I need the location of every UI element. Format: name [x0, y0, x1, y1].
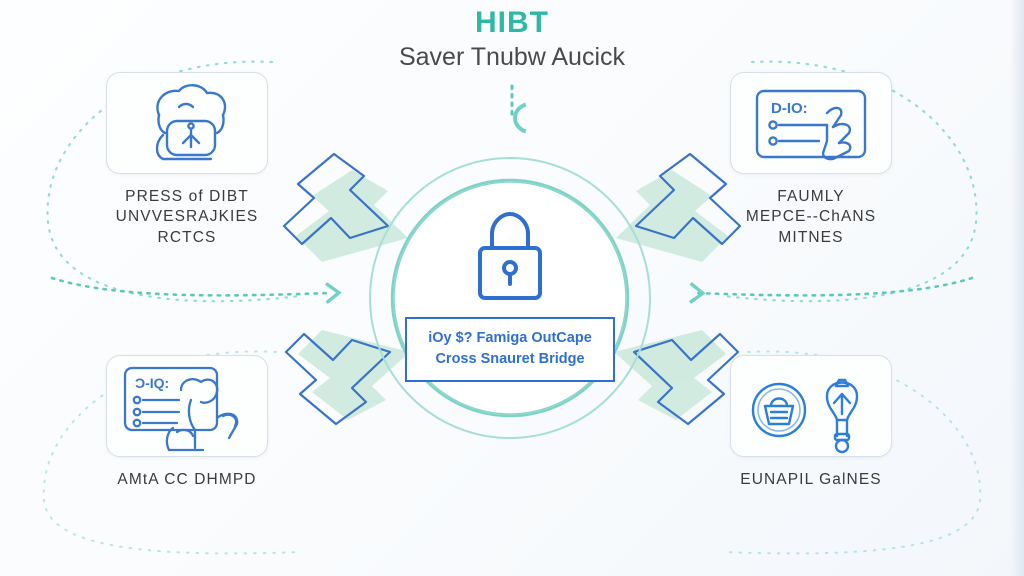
basket-badge-trophy-icon — [730, 355, 892, 457]
node-top-right[interactable]: D-IO: FAUMLY MEPCE--ChANS MITNES — [716, 72, 906, 248]
presenter-checklist-card-icon: Ɔ-IQ: — [106, 355, 268, 457]
node-bottom-left-label: AMtA CC DHMPD — [92, 470, 282, 490]
infographic-canvas: HIBT Saver Tnubw Aucick PRESS of DIBT UN… — [0, 0, 1024, 576]
page-subtitle: Saver Tnubw Aucick — [0, 42, 1024, 73]
node-bottom-right[interactable]: EUNAPIL GalNES — [716, 355, 906, 490]
card-text-top-right: D-IO: — [771, 100, 808, 117]
checklist-hand-card-icon: D-IO: — [730, 72, 892, 174]
node-bottom-right-label: EUNAPIL GalNES — [716, 470, 906, 490]
node-top-left-label: PRESS of DIBT UNVVESRAJKIES RCTCS — [92, 187, 282, 248]
hub-label-line2: Cross Snauret Bridge — [421, 349, 599, 370]
right-inbound-arrow — [694, 278, 972, 295]
hub-label-line1: iOy $? Famiga OutCape — [421, 328, 599, 349]
person-sketch-card-icon — [106, 72, 268, 174]
node-top-right-label: FAUMLY MEPCE--ChANS MITNES — [716, 187, 906, 248]
center-hub[interactable]: iOy $? Famiga OutCape Cross Snauret Brid… — [370, 178, 650, 428]
padlock-icon — [464, 208, 556, 309]
title-block: HIBT Saver Tnubw Aucick — [0, 6, 1024, 73]
node-top-left[interactable]: PRESS of DIBT UNVVESRAJKIES RCTCS — [92, 72, 282, 248]
hub-label-box: iOy $? Famiga OutCape Cross Snauret Brid… — [405, 317, 615, 382]
node-bottom-left[interactable]: Ɔ-IQ: AMtA CC DHMPD — [92, 355, 282, 490]
card-text-bottom-left: Ɔ-IQ: — [135, 375, 169, 391]
left-inbound-arrow — [52, 278, 330, 295]
page-title: HIBT — [0, 6, 1024, 40]
